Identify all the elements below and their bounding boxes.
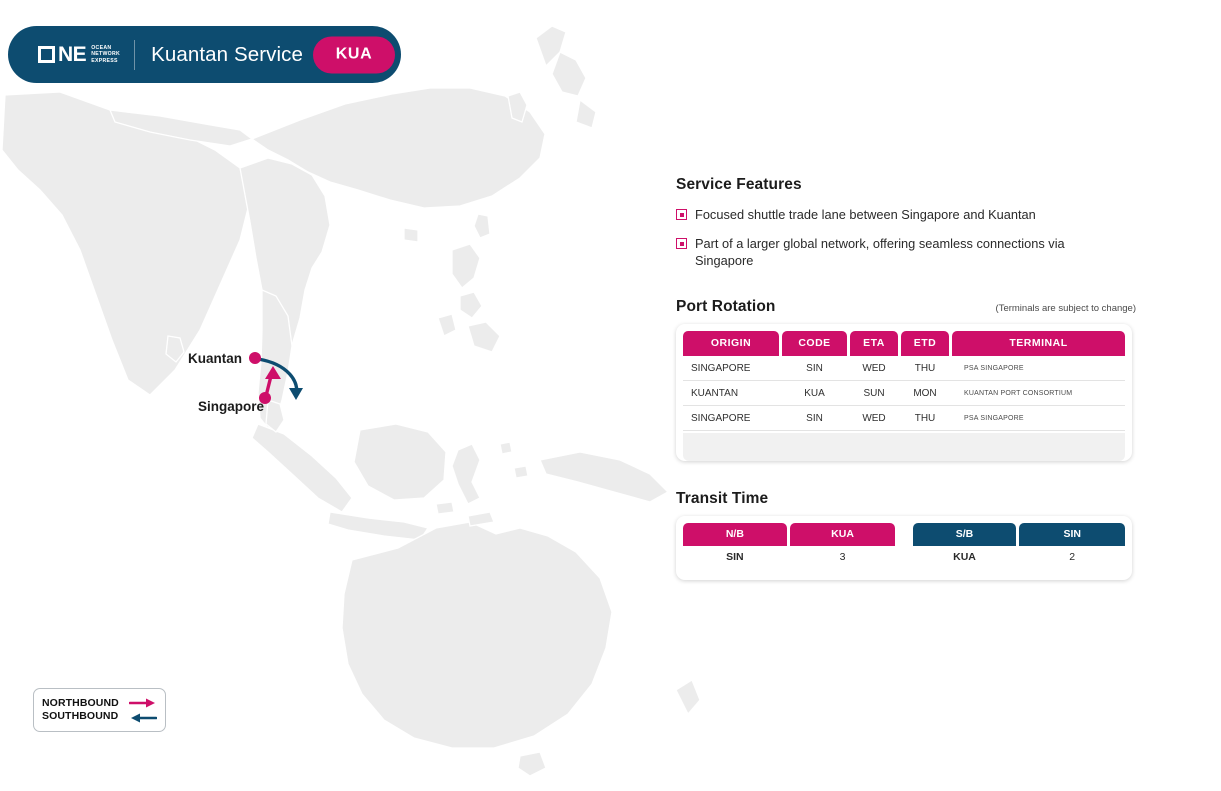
header-northbound-dest: KUA (790, 523, 896, 546)
legend-label-southbound: SOUTHBOUND (42, 710, 119, 724)
cell-code: SIN (782, 363, 847, 374)
cell-etd: THU (901, 413, 949, 424)
port-rotation-title: Port Rotation (676, 298, 775, 316)
port-rotation-table: ORIGIN CODE ETA ETD TERMINAL SINGAPORE S… (676, 324, 1132, 461)
legend-labels: NORTHBOUND SOUTHBOUND (42, 697, 119, 724)
one-logo-square-icon (38, 46, 55, 63)
service-map-page: Kuantan Singapore NE OCEAN NETWORK EXPRE… (0, 0, 1221, 791)
logo-line-express: EXPRESS (91, 58, 120, 64)
cell-etd: THU (901, 363, 949, 374)
northbound-arrow-icon (129, 696, 157, 709)
column-header-code: CODE (782, 331, 847, 356)
cell-origin: SINGAPORE (683, 413, 779, 424)
service-feature-item: Focused shuttle trade lane between Singa… (676, 206, 1036, 223)
southbound-arrowhead (289, 388, 303, 400)
legend-arrow-group (129, 696, 157, 724)
cell-etd: MON (901, 388, 949, 399)
table-row: SINGAPORE SIN WED THU PSA SINGAPORE (683, 356, 1125, 381)
bullet-square-icon (676, 238, 687, 249)
bullet-square-icon (676, 209, 687, 220)
table-row: KUANTAN KUA SUN MON KUANTAN PORT CONSORT… (683, 381, 1125, 406)
table-row: SINGAPORE SIN WED THU PSA SINGAPORE (683, 406, 1125, 431)
table-footer-spacer (683, 433, 1125, 461)
cell-terminal: PSA SINGAPORE (952, 415, 1125, 422)
one-logo-subtext: OCEAN NETWORK EXPRESS (91, 45, 120, 64)
cell-code: SIN (782, 413, 847, 424)
service-header-bar: NE OCEAN NETWORK EXPRESS Kuantan Service… (8, 26, 401, 83)
column-header-terminal: TERMINAL (952, 331, 1125, 356)
southbound-days: 2 (1019, 551, 1125, 563)
header-northbound: N/B (683, 523, 787, 546)
table-header-row: ORIGIN CODE ETA ETD TERMINAL (683, 331, 1125, 356)
one-wordmark: NE (38, 46, 86, 63)
page-title: Kuantan Service (151, 43, 303, 67)
cell-terminal: KUANTAN PORT CONSORTIUM (952, 390, 1125, 397)
service-code-badge: KUA (313, 36, 395, 73)
one-logo: NE OCEAN NETWORK EXPRESS (38, 42, 120, 68)
one-logo-letters: NE (58, 46, 86, 63)
landmass-shapes (2, 26, 700, 776)
southbound-arrow-icon (129, 711, 157, 724)
transit-data-row: SIN 3 KUA 2 (683, 546, 1125, 568)
northbound-days: 3 (790, 551, 896, 563)
header-divider (134, 40, 135, 70)
map-label-singapore: Singapore (198, 399, 264, 414)
port-rotation-note: (Terminals are subject to change) (996, 303, 1136, 314)
transit-column-gap (898, 523, 909, 546)
cell-eta: SUN (850, 388, 898, 399)
service-feature-text: Part of a larger global network, offerin… (695, 235, 1095, 269)
column-header-eta: ETA (850, 331, 898, 356)
column-header-etd: ETD (901, 331, 949, 356)
transit-time-table: N/B KUA S/B SIN SIN 3 KUA 2 (676, 516, 1132, 580)
direction-legend: NORTHBOUND SOUTHBOUND (33, 688, 166, 732)
transit-header-row: N/B KUA S/B SIN (683, 523, 1125, 546)
port-dot-kuantan (249, 352, 261, 364)
service-feature-text: Focused shuttle trade lane between Singa… (695, 206, 1036, 223)
cell-terminal: PSA SINGAPORE (952, 365, 1125, 372)
header-southbound-dest: SIN (1019, 523, 1125, 546)
legend-label-northbound: NORTHBOUND (42, 697, 119, 711)
cell-eta: WED (850, 363, 898, 374)
service-feature-item: Part of a larger global network, offerin… (676, 235, 1095, 269)
cell-code: KUA (782, 388, 847, 399)
details-panel: Service Features Focused shuttle trade l… (676, 0, 1136, 791)
map-label-kuantan: Kuantan (188, 351, 242, 366)
service-features-title: Service Features (676, 176, 802, 194)
header-southbound: S/B (913, 523, 1017, 546)
transit-time-title: Transit Time (676, 490, 768, 508)
northbound-origin: SIN (683, 551, 787, 563)
southbound-origin: KUA (913, 551, 1017, 563)
cell-eta: WED (850, 413, 898, 424)
cell-origin: KUANTAN (683, 388, 779, 399)
column-header-origin: ORIGIN (683, 331, 779, 356)
cell-origin: SINGAPORE (683, 363, 779, 374)
